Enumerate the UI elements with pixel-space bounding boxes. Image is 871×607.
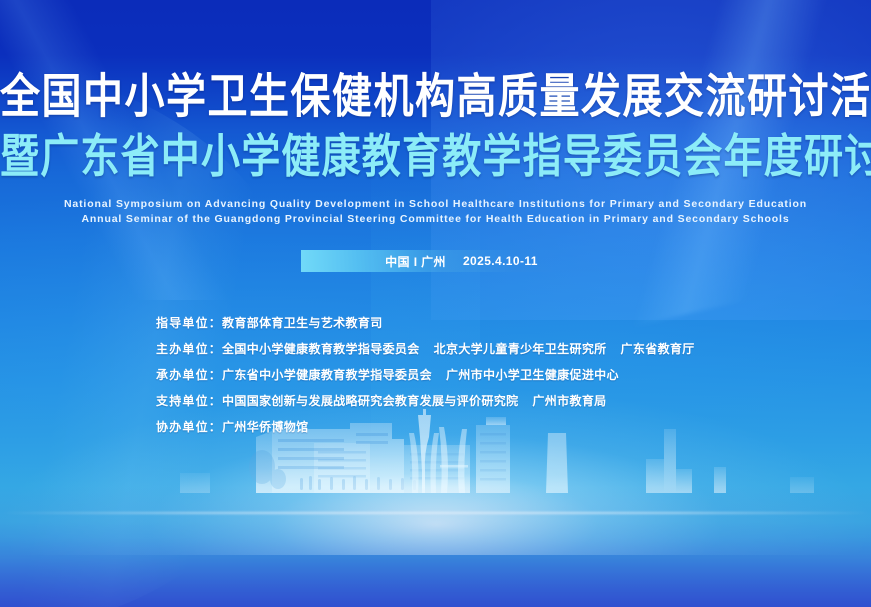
organization-values: 全国中小学健康教育教学指导委员会北京大学儿童青少年卫生研究所广东省教育厅 [222,336,695,362]
location-date-badge: 中国 I 广州 2025.4.10-11 [301,250,571,272]
organization-label: 指导单位： [156,310,222,336]
organization-row: 支持单位：中国国家创新与发展战略研究会教育发展与评价研究院广州市教育局 [156,388,871,414]
title-line-2: 暨广东省中小学健康教育教学指导委员会年度研讨活动 [0,132,871,184]
organization-value: 全国中小学健康教育教学指导委员会 [222,336,420,362]
organization-row: 协办单位：广州华侨博物馆 [156,414,871,440]
english-subtitle-line-2: Annual Seminar of the Guangdong Provinci… [0,212,871,227]
organization-label: 承办单位： [156,362,222,388]
organizations-list: 指导单位：教育部体育卫生与艺术教育司主办单位：全国中小学健康教育教学指导委员会北… [0,310,871,440]
bottom-gradient-fade [0,487,871,607]
organization-label: 协办单位： [156,414,222,440]
organization-values: 广东省中小学健康教育教学指导委员会广州市中小学卫生健康促进中心 [222,362,619,388]
title-block: 全国中小学卫生保健机构高质量发展交流研讨活动 暨广东省中小学健康教育教学指导委员… [0,0,871,176]
english-subtitle-line-1: National Symposium on Advancing Quality … [0,197,871,212]
organization-value: 北京大学儿童青少年卫生研究所 [434,336,607,362]
badge-date: 2025.4.10-11 [463,254,538,268]
organization-value: 广州华侨博物馆 [222,414,308,440]
organization-row: 承办单位：广东省中小学健康教育教学指导委员会广州市中小学卫生健康促进中心 [156,362,871,388]
location-date-badge-wrap: 中国 I 广州 2025.4.10-11 [0,250,871,272]
badge-location: 中国 I 广州 [385,253,446,270]
organization-value: 广东省中小学健康教育教学指导委员会 [222,362,432,388]
organization-row: 指导单位：教育部体育卫生与艺术教育司 [156,310,871,336]
organization-value: 广东省教育厅 [621,336,695,362]
organization-label: 支持单位： [156,388,222,414]
title-line-1: 全国中小学卫生保健机构高质量发展交流研讨活动 [0,70,871,124]
organization-values: 中国国家创新与发展战略研究会教育发展与评价研究院广州市教育局 [222,388,607,414]
conference-banner: 全国中小学卫生保健机构高质量发展交流研讨活动 暨广东省中小学健康教育教学指导委员… [0,0,871,607]
organization-value: 教育部体育卫生与艺术教育司 [222,310,383,336]
organization-label: 主办单位： [156,336,222,362]
organization-row: 主办单位：全国中小学健康教育教学指导委员会北京大学儿童青少年卫生研究所广东省教育… [156,336,871,362]
organization-value: 广州市中小学卫生健康促进中心 [446,362,619,388]
organization-value: 中国国家创新与发展战略研究会教育发展与评价研究院 [222,388,518,414]
english-subtitle-block: National Symposium on Advancing Quality … [0,197,871,227]
horizon-line [0,512,871,514]
organization-values: 广州华侨博物馆 [222,414,308,440]
organization-value: 广州市教育局 [532,388,606,414]
organization-values: 教育部体育卫生与艺术教育司 [222,310,383,336]
